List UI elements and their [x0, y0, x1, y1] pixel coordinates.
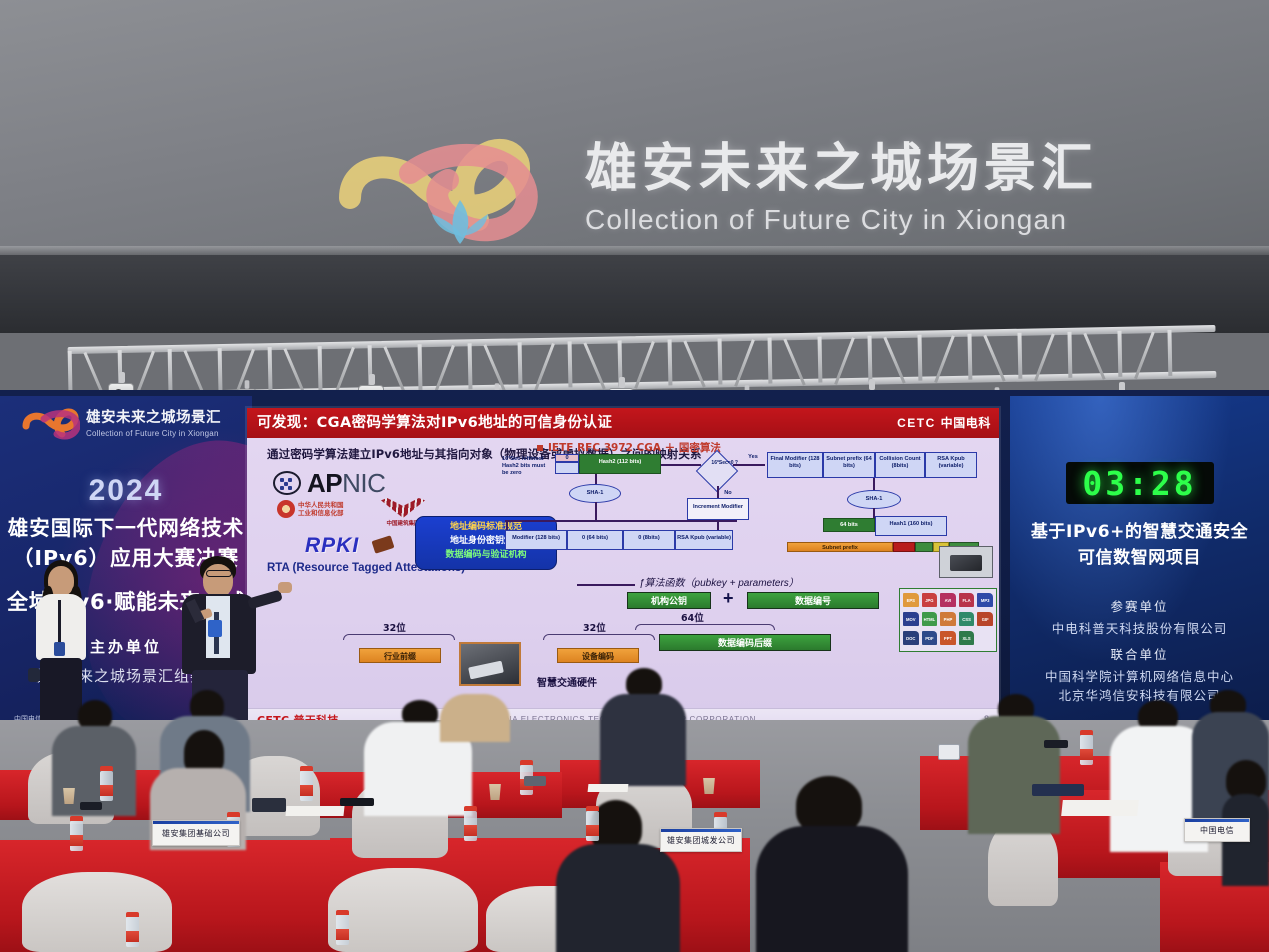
water-bottle	[70, 816, 83, 851]
flow-sha1-a: SHA-1	[569, 484, 621, 503]
paper-sheet	[1061, 800, 1139, 816]
event-banner-logo-cn: 雄安未来之城场景汇	[86, 406, 246, 427]
flow-right-box-0: Final Modifier (128 bits)	[767, 452, 823, 478]
placard-label-0: 雄安集团基础公司	[162, 828, 230, 839]
bits-32-right-label: 32位	[583, 620, 606, 634]
arrow-decision-to-increment	[717, 486, 719, 498]
miit-line1: 中华人民共和国	[298, 501, 344, 509]
arrow-decision-to-final	[733, 464, 765, 466]
file-type-icon: PHP	[940, 612, 956, 626]
slide-header-title: 可发现：CGA密码学算法对IPv6地址的可信身份认证	[257, 415, 612, 431]
partner-heading: 联合单位	[1010, 644, 1269, 663]
flow-sha1-b: SHA-1	[847, 490, 901, 509]
file-type-icon: PPT	[940, 631, 956, 645]
bullet-icon	[537, 445, 543, 451]
entrant-block: 参赛单位 中电科普天科技股份有限公司	[1010, 596, 1269, 638]
audience-member-raised-arm	[440, 678, 510, 748]
notebook	[1032, 784, 1084, 796]
flow-hash2-left-tail	[555, 462, 579, 474]
flow-bottom-box-1: 0 (64 bits)	[567, 530, 623, 550]
infinity-bird-logo-icon	[310, 128, 610, 253]
project-title-line1: 基于IPv6+的智慧交通安全	[1010, 520, 1269, 546]
plus-sign: +	[723, 588, 734, 609]
name-tent-small	[938, 744, 960, 760]
audience-member	[556, 800, 680, 952]
device-code-box: 设备编码	[557, 648, 639, 663]
flow-hash2-box: Hash2 (112 bits)	[579, 454, 661, 474]
flow-note-left: 16*Sec leftmost Hash2 bits must be zero	[502, 456, 550, 477]
hall-brand-en: Collection of Future City in Xiongan	[585, 204, 1125, 236]
formula-text: ƒ算法函数（pubkey + parameters）	[639, 574, 799, 589]
water-bottle	[300, 766, 313, 801]
water-bottle	[1080, 730, 1093, 765]
brace-64	[635, 624, 775, 630]
bits-64-label: 64位	[681, 610, 704, 624]
file-type-icon: JPG	[922, 593, 938, 607]
apnic-logo-icon: APNIC	[273, 468, 443, 498]
arrow-sha1-to-bottom	[595, 502, 597, 520]
green-box-suffix: 数据编码后缀	[659, 634, 831, 651]
industry-prefix-box: 行业前缀	[359, 648, 441, 663]
table-placard: 中国电信	[1184, 818, 1250, 842]
file-type-icon: XLS	[959, 631, 975, 645]
cetc-mark: CETC	[897, 416, 936, 430]
flow-hash1-box: Hash1 (160 bits)	[875, 516, 947, 536]
flow-64bits: 64 bits	[823, 518, 875, 532]
placard-label-2: 中国电信	[1200, 825, 1234, 836]
event-banner-logo-en: Collection of Future City in Xiongan	[86, 429, 246, 438]
flow-seg-green	[915, 542, 933, 552]
chip-photo	[939, 546, 993, 578]
audience-member	[756, 776, 908, 952]
ietf-heading: IETF RFC 3972 CGA ＋ 国密算法	[537, 440, 721, 455]
apnic-wordmark: APNIC	[307, 468, 385, 499]
file-type-icon: GIF	[977, 612, 993, 626]
flow-increment: Increment Modifier	[687, 498, 749, 520]
arrow-final-to-sha1b	[873, 478, 875, 490]
cetc-cn: 中国电科	[941, 416, 991, 430]
file-type-icon: MP3	[977, 593, 993, 607]
green-box-data-id: 数据编号	[747, 592, 879, 609]
microphone	[1044, 740, 1068, 748]
conference-hall-photo: 雄安未来之城场景汇 Collection of Future City in X…	[0, 0, 1269, 952]
arrow-sha1b-to-hash1	[873, 508, 875, 518]
water-bottle	[126, 912, 139, 947]
project-title-line2: 可信数智网项目	[1010, 546, 1269, 572]
brace-32-right	[543, 634, 655, 640]
file-type-icon: MOV	[903, 612, 919, 626]
flow-subnet-prefix: Subnet prefix	[787, 542, 893, 552]
flow-bottom-box-2: 0 (8bits)	[623, 530, 675, 550]
arrow-bottom-rail	[505, 520, 737, 522]
arrow-rail-right	[717, 520, 719, 530]
file-type-icon: FLA	[959, 593, 975, 607]
rpki-logo: RPKI	[305, 534, 359, 558]
flow-right-box-3: RSA Kpub (variable)	[925, 452, 977, 478]
table-placard: 雄安集团城发公司	[660, 828, 742, 852]
chair	[328, 868, 478, 952]
flow-bottom-box-0: Modifier (128 bits)	[505, 530, 567, 550]
event-title-line1: 雄安国际下一代网络技术	[0, 514, 252, 544]
arrow-hash2-to-decision	[661, 464, 701, 466]
file-type-icon: EPS	[903, 593, 919, 607]
countdown-timer: 03:28	[1066, 462, 1214, 504]
slide-header-bar: 可发现：CGA密码学算法对IPv6地址的可信身份认证 CETC 中国电科	[247, 408, 999, 438]
arrow-hash2-to-sha1	[595, 474, 597, 484]
flow-right-box-2: Collision Count (8bits)	[875, 452, 925, 478]
entrant-name: 中电科普天科技股份有限公司	[1010, 619, 1269, 638]
water-bottle	[464, 806, 477, 841]
paper-sheet	[588, 784, 629, 792]
hall-brand-text: 雄安未来之城场景汇 Collection of Future City in X…	[585, 140, 1125, 236]
flow-no-label: No	[721, 490, 735, 497]
file-type-icon: HTML	[922, 612, 938, 626]
entrant-heading: 参赛单位	[1010, 596, 1269, 615]
file-type-icon: CSS	[959, 612, 975, 626]
event-banner-logotype: 雄安未来之城场景汇 Collection of Future City in X…	[86, 406, 246, 438]
file-type-icon: PDF	[922, 631, 938, 645]
event-year: 2024	[0, 474, 252, 508]
countdown-value: 03:28	[1082, 464, 1196, 503]
file-type-icon: AVI	[940, 593, 956, 607]
flow-seg-red	[893, 542, 915, 552]
ceiling-shadow-band	[0, 255, 1269, 333]
miit-line2: 工业和信息化部	[298, 509, 344, 517]
flow-right-box-1: Subnet prefix (64 bits)	[823, 452, 875, 478]
microphone	[80, 802, 102, 810]
calculator	[252, 798, 286, 812]
rpki-seal-icon	[371, 535, 394, 554]
audience-member	[1222, 760, 1269, 870]
audience-member	[968, 694, 1060, 826]
slide-header-brand: CETC 中国电科	[897, 408, 991, 438]
arrow-rail-left	[506, 520, 508, 530]
thermos	[524, 776, 546, 786]
partner-name-line1: 中国科学院计算机网络信息中心	[1010, 667, 1269, 686]
water-bottle	[100, 766, 113, 801]
flow-hash2-zero: 0	[555, 454, 579, 462]
green-box-org-key: 机构公钥	[627, 592, 711, 609]
flow-yes-label: Yes	[744, 454, 762, 461]
project-title: 基于IPv6+的智慧交通安全 可信数智网项目	[1010, 520, 1269, 571]
hall-brand-cn: 雄安未来之城场景汇	[585, 140, 1125, 198]
miit-logo-icon: 中华人民共和国 工业和信息化部	[277, 500, 344, 518]
chair	[22, 872, 172, 952]
smartphone	[340, 798, 374, 806]
audience-member	[600, 668, 686, 776]
placard-label-1: 雄安集团城发公司	[667, 835, 735, 846]
file-type-icon-grid: EPSJPGAVIFLAMP3MOVHTMLPHPCSSGIFDOCPDFPPT…	[899, 588, 997, 652]
brace-32-left	[343, 634, 455, 640]
event-banner-logo-icon	[18, 406, 80, 440]
file-type-icon: DOC	[903, 631, 919, 645]
capability-line3: 数据编码与验证机构	[416, 549, 556, 563]
right-info-panel: 03:28 基于IPv6+的智慧交通安全 可信数智网项目 参赛单位 中电科普天科…	[1010, 396, 1269, 738]
bits-32-left-label: 32位	[383, 620, 406, 634]
table-placard: 雄安集团基础公司	[152, 820, 240, 846]
water-bottle	[586, 806, 599, 841]
flow-bottom-box-3: RSA Kpub (variable)	[675, 530, 733, 550]
paper-sheet	[285, 806, 344, 816]
arrow-to-formula	[577, 584, 635, 586]
hardware-label: 智慧交通硬件	[537, 674, 597, 689]
water-bottle	[336, 910, 349, 945]
